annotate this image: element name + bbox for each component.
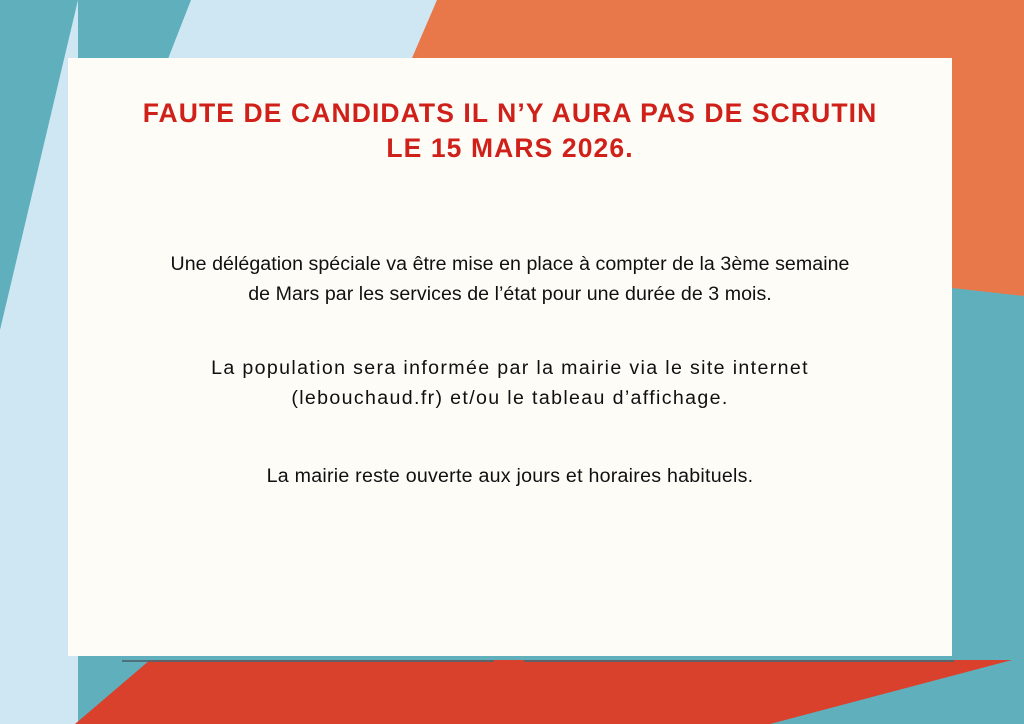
paragraph-delegation: Une délégation spéciale va être mise en …: [68, 250, 952, 310]
announcement-card-content: FAUTE DE CANDIDATS IL N’Y AURA PAS DE SC…: [68, 58, 952, 656]
announcement-card: FAUTE DE CANDIDATS IL N’Y AURA PAS DE SC…: [68, 58, 952, 656]
paragraph-delegation-line-2: de Mars par les services de l’état pour …: [68, 280, 952, 310]
page-title: FAUTE DE CANDIDATS IL N’Y AURA PAS DE SC…: [68, 96, 952, 166]
paragraph-delegation-line-1: Une délégation spéciale va être mise en …: [68, 250, 952, 280]
divider-rule-right: [524, 660, 954, 662]
poster-canvas: FAUTE DE CANDIDATS IL N’Y AURA PAS DE SC…: [0, 0, 1024, 724]
page-title-line-1: FAUTE DE CANDIDATS IL N’Y AURA PAS DE SC…: [74, 96, 946, 131]
paragraph-information-line-1: La population sera informée par la mairi…: [68, 354, 952, 384]
announcement-body: Une délégation spéciale va être mise en …: [68, 250, 952, 491]
paragraph-information: La population sera informée par la mairi…: [68, 354, 952, 414]
paragraph-information-line-2: (lebouchaud.fr) et/ou le tableau d’affic…: [68, 384, 952, 414]
red-bottom-band-shape: [0, 655, 1024, 724]
divider-rule-left: [122, 660, 494, 662]
paragraph-opening-hours-line-1: La mairie reste ouverte aux jours et hor…: [68, 462, 952, 492]
paragraph-opening-hours: La mairie reste ouverte aux jours et hor…: [68, 462, 952, 492]
page-title-line-2: LE 15 MARS 2026.: [74, 131, 946, 166]
